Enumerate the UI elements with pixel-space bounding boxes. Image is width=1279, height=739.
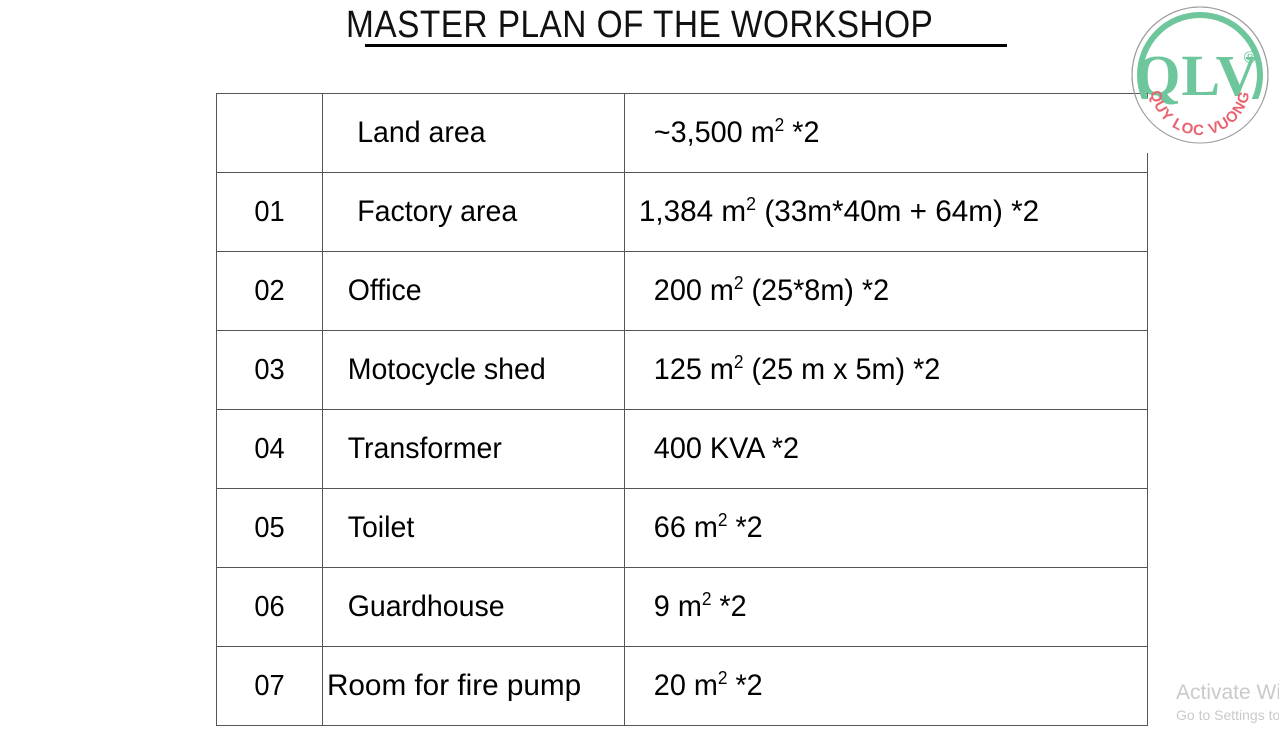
row-label-cell: Motocycle shed [323, 331, 625, 410]
row-number: 04 [220, 433, 319, 465]
table-row: Land area ~3,500 m2 *2 [217, 94, 1148, 173]
row-label-cell: Factory area [323, 173, 625, 252]
row-number-cell: 07 [217, 647, 323, 726]
row-number-cell: 05 [217, 489, 323, 568]
windows-activation-watermark: Activate Windows Go to Settings to activ… [1176, 680, 1279, 725]
title-underline [365, 44, 1007, 47]
row-number: 01 [220, 196, 319, 228]
row-label: Guardhouse [323, 591, 609, 623]
row-value-cell: ~3,500 m2 *2 [625, 94, 1148, 173]
row-number-cell: 04 [217, 410, 323, 489]
table-row: 01 Factory area 1,384 m2 (33m*40m + 64m)… [217, 173, 1148, 252]
row-value: 9 m2 *2 [625, 591, 1126, 623]
row-value-cell: 1,384 m2 (33m*40m + 64m) *2 [625, 173, 1148, 252]
row-value-cell: 20 m2 *2 [625, 647, 1148, 726]
row-value: 400 KVA *2 [625, 433, 1126, 465]
row-number: 03 [220, 354, 319, 386]
logo-svg: QLV ® QUY LOC VUONG [1123, 3, 1277, 154]
table-body: Land area ~3,500 m2 *2 01 Factory area 1… [217, 94, 1148, 726]
qlv-company-logo: QLV ® QUY LOC VUONG [1123, 3, 1277, 154]
row-number: 02 [220, 275, 319, 307]
row-label-cell: Guardhouse [323, 568, 625, 647]
row-label-cell: Room for fire pump [323, 647, 625, 726]
row-value-cell: 200 m2 (25*8m) *2 [625, 252, 1148, 331]
row-label-cell: Transformer [323, 410, 625, 489]
table-row: 04 Transformer 400 KVA *2 [217, 410, 1148, 489]
row-value: 66 m2 *2 [625, 512, 1126, 544]
table-row: 02 Office 200 m2 (25*8m) *2 [217, 252, 1148, 331]
row-value-cell: 400 KVA *2 [625, 410, 1148, 489]
table-row: 06 Guardhouse 9 m2 *2 [217, 568, 1148, 647]
master-plan-table: Land area ~3,500 m2 *2 01 Factory area 1… [216, 93, 1148, 726]
row-number-cell: 02 [217, 252, 323, 331]
page-title-container: MASTER PLAN OF THE WORKSHOP [0, 4, 1279, 46]
row-value: 125 m2 (25 m x 5m) *2 [625, 354, 1126, 386]
row-label: Factory area [323, 196, 609, 228]
row-label-cell: Land area [323, 94, 625, 173]
row-value-cell: 125 m2 (25 m x 5m) *2 [625, 331, 1148, 410]
table-row: 07 Room for fire pump 20 m2 *2 [217, 647, 1148, 726]
row-label: Motocycle shed [323, 354, 609, 386]
row-value: ~3,500 m2 *2 [625, 117, 1126, 149]
row-label-cell: Toilet [323, 489, 625, 568]
row-number-cell [217, 94, 323, 173]
row-value: 20 m2 *2 [625, 670, 1126, 702]
row-value-cell: 9 m2 *2 [625, 568, 1148, 647]
row-label: Office [323, 275, 609, 307]
row-number-cell: 03 [217, 331, 323, 410]
row-number-cell: 01 [217, 173, 323, 252]
table-row: 03 Motocycle shed 125 m2 (25 m x 5m) *2 [217, 331, 1148, 410]
row-value: 200 m2 (25*8m) *2 [625, 275, 1126, 307]
row-label: Land area [323, 117, 609, 149]
watermark-title: Activate Windows [1176, 680, 1279, 706]
row-number: 06 [220, 591, 319, 623]
row-number-cell: 06 [217, 568, 323, 647]
row-label-cell: Office [323, 252, 625, 331]
table-row: 05 Toilet 66 m2 *2 [217, 489, 1148, 568]
row-value: 1,384 m2 (33m*40m + 64m) *2 [625, 196, 1142, 228]
watermark-subtitle: Go to Settings to activate Windows. [1176, 706, 1279, 725]
row-label: Room for fire pump [323, 670, 621, 702]
row-number: 07 [220, 670, 319, 702]
page-title: MASTER PLAN OF THE WORKSHOP [341, 4, 939, 46]
row-label: Toilet [323, 512, 609, 544]
registered-trademark-icon: ® [1244, 48, 1257, 67]
row-label: Transformer [323, 433, 609, 465]
row-number: 05 [220, 512, 319, 544]
row-value-cell: 66 m2 *2 [625, 489, 1148, 568]
